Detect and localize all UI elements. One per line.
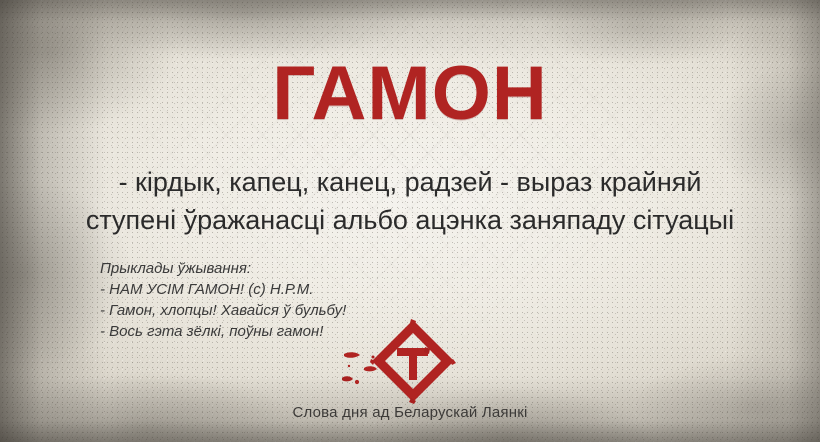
word-of-the-day-poster: ГАМОН - кірдык, капец, канец, радзей - в… <box>0 0 820 442</box>
example-item-1: - НАМ УСІМ ГАМОН! (с) Н.Р.М. <box>100 279 346 300</box>
poster-content: ГАМОН - кірдык, капец, канец, радзей - в… <box>0 0 820 442</box>
example-item-2: - Гамон, хлопцы! Хавайся ў бульбу! <box>100 300 346 321</box>
example-item-3: - Вось гэта зёлкі, поўны гамон! <box>100 321 346 342</box>
page-title: ГАМОН <box>0 56 820 132</box>
definition-line-2: ступені ўражанасці альбо ацэнка заняпаду… <box>24 201 796 239</box>
examples-heading: Прыклады ўжывання: <box>100 258 346 279</box>
definition-line-1: - кірдык, капец, канец, радзей - выраз к… <box>24 163 796 201</box>
examples-block: Прыклады ўжывання: - НАМ УСІМ ГАМОН! (с)… <box>100 258 346 342</box>
definition-block: - кірдык, капец, канец, радзей - выраз к… <box>24 163 796 239</box>
belaruskaja-lajanka-logo <box>370 318 456 404</box>
footer-caption: Слова дня ад Беларускай Лаянкі <box>0 404 820 421</box>
